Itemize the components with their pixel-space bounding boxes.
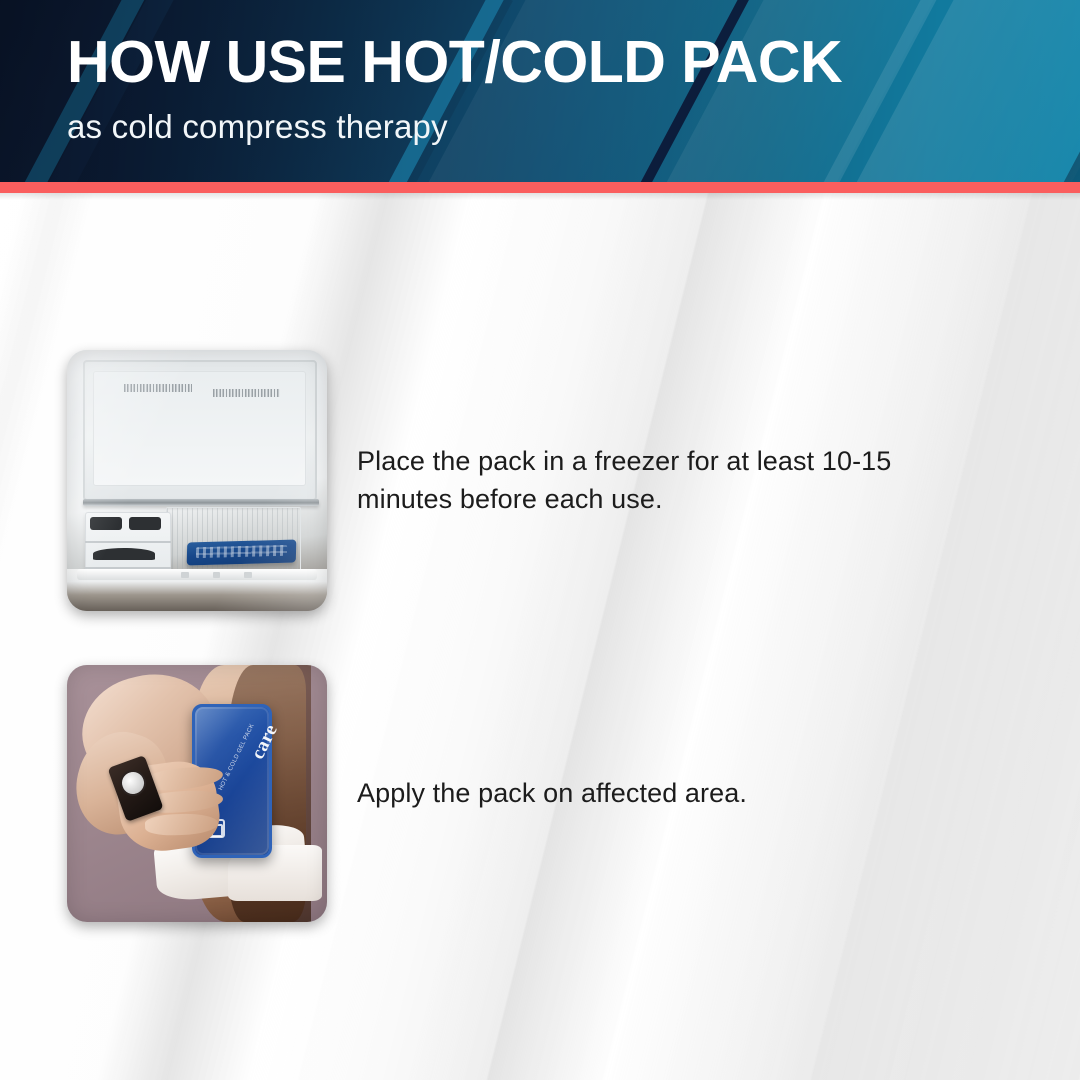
poster-canvas: HOW USE HOT/COLD PACK as cold compress t… [0,0,1080,1080]
freezer-with-gel-pack-photo [67,350,327,611]
freezer-glass-gloss [67,350,327,611]
step-item: care HOT & COLD GEL PACK Apply the pack … [67,665,987,922]
freezer-illustration [67,350,327,611]
instruction-steps: Place the pack in a freezer for at least… [0,0,1080,1080]
step-description: Apply the pack on affected area. [357,775,987,812]
step-item: Place the pack in a freezer for at least… [67,350,987,611]
step-description: Place the pack in a freezer for at least… [357,443,987,518]
person-applying-gel-pack-to-arm-photo: care HOT & COLD GEL PACK [67,665,327,922]
